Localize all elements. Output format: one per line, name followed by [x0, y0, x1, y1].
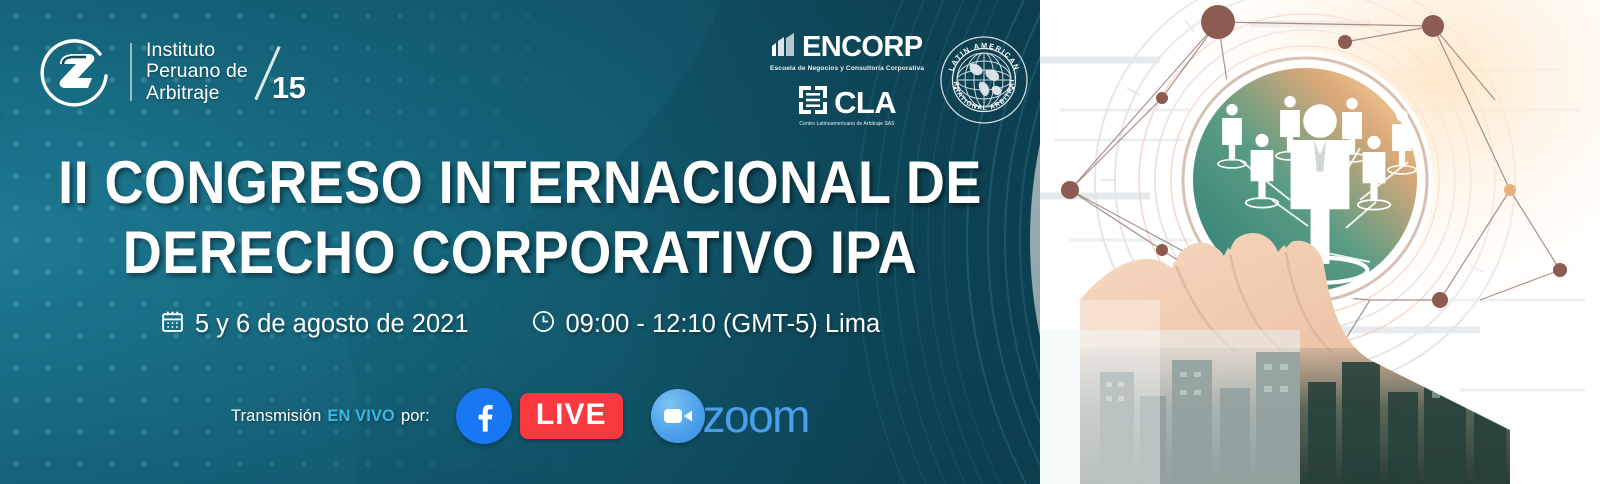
encorp-name: ENCORP [802, 33, 922, 62]
ipa-wordmark: Instituto Peruano de Arbitraje [146, 40, 248, 105]
encorp-building-icon [770, 32, 796, 63]
cla-logo: CLA Centro Latinoamericano de Arbitraje … [798, 85, 896, 128]
page-title: II CONGRESO INTERNACIONAL DE DERECHO COR… [52, 148, 988, 288]
title-line-1: II CONGRESO INTERNACIONAL DE [52, 148, 988, 218]
cla-pinwheel-icon [798, 85, 828, 120]
logo-divider [130, 43, 132, 101]
title-line-2: DERECHO CORPORATIVO IPA [52, 218, 988, 288]
facebook-icon[interactable] [456, 388, 512, 444]
broadcast-label-post: por: [401, 407, 430, 426]
zoom-wordmark[interactable]: zoom [703, 393, 809, 439]
ipa-line-2: Peruano de [146, 61, 248, 83]
event-date: 5 y 6 de agosto de 2021 [195, 312, 469, 338]
ipa-monogram-icon [38, 34, 114, 110]
event-time-item: 09:00 - 12:10 (GMT-5) Lima [531, 309, 881, 340]
broadcast-row: Transmisión EN VIVO por: LIVE zoom [0, 388, 1040, 444]
latin-american-arbitration-seal: LATIN AMERICAN INTERNATIONAL ARBITRATION [940, 36, 1028, 124]
event-date-item: 5 y 6 de agosto de 2021 [160, 309, 469, 340]
encorp-logo: ENCORP Escuela de Negocios y Consultoría… [770, 32, 924, 73]
event-meta: 5 y 6 de agosto de 2021 09:00 - 12:10 (G… [0, 309, 1040, 340]
ipa-line-1: Instituto [146, 40, 248, 62]
clock-icon [531, 309, 556, 340]
calendar-icon [160, 309, 185, 340]
zoom-logo[interactable]: zoom [651, 389, 809, 443]
cla-name: CLA [834, 87, 896, 118]
cla-tagline: Centro Latinoamericano de Arbitraje SAS [798, 122, 896, 128]
zoom-camera-icon[interactable] [651, 389, 705, 443]
anniversary-badge: 15 [252, 42, 304, 104]
event-banner: Instituto Peruano de Arbitraje 15 [0, 0, 1600, 484]
ipa-line-3: Arbitraje [146, 83, 248, 105]
broadcast-label-highlight: EN VIVO [327, 407, 395, 426]
broadcast-label: Transmisión EN VIVO por: [231, 407, 430, 426]
partner-logos: ENCORP Escuela de Negocios y Consultoría… [770, 32, 1028, 127]
encorp-tagline: Escuela de Negocios y Consultoría Corpor… [770, 65, 924, 73]
broadcast-label-pre: Transmisión [231, 407, 321, 426]
anniversary-number: 15 [272, 70, 305, 106]
event-time: 09:00 - 12:10 (GMT-5) Lima [566, 312, 881, 338]
facebook-live-badge[interactable]: LIVE [520, 393, 623, 439]
ipa-logo: Instituto Peruano de Arbitraje 15 [38, 34, 304, 110]
